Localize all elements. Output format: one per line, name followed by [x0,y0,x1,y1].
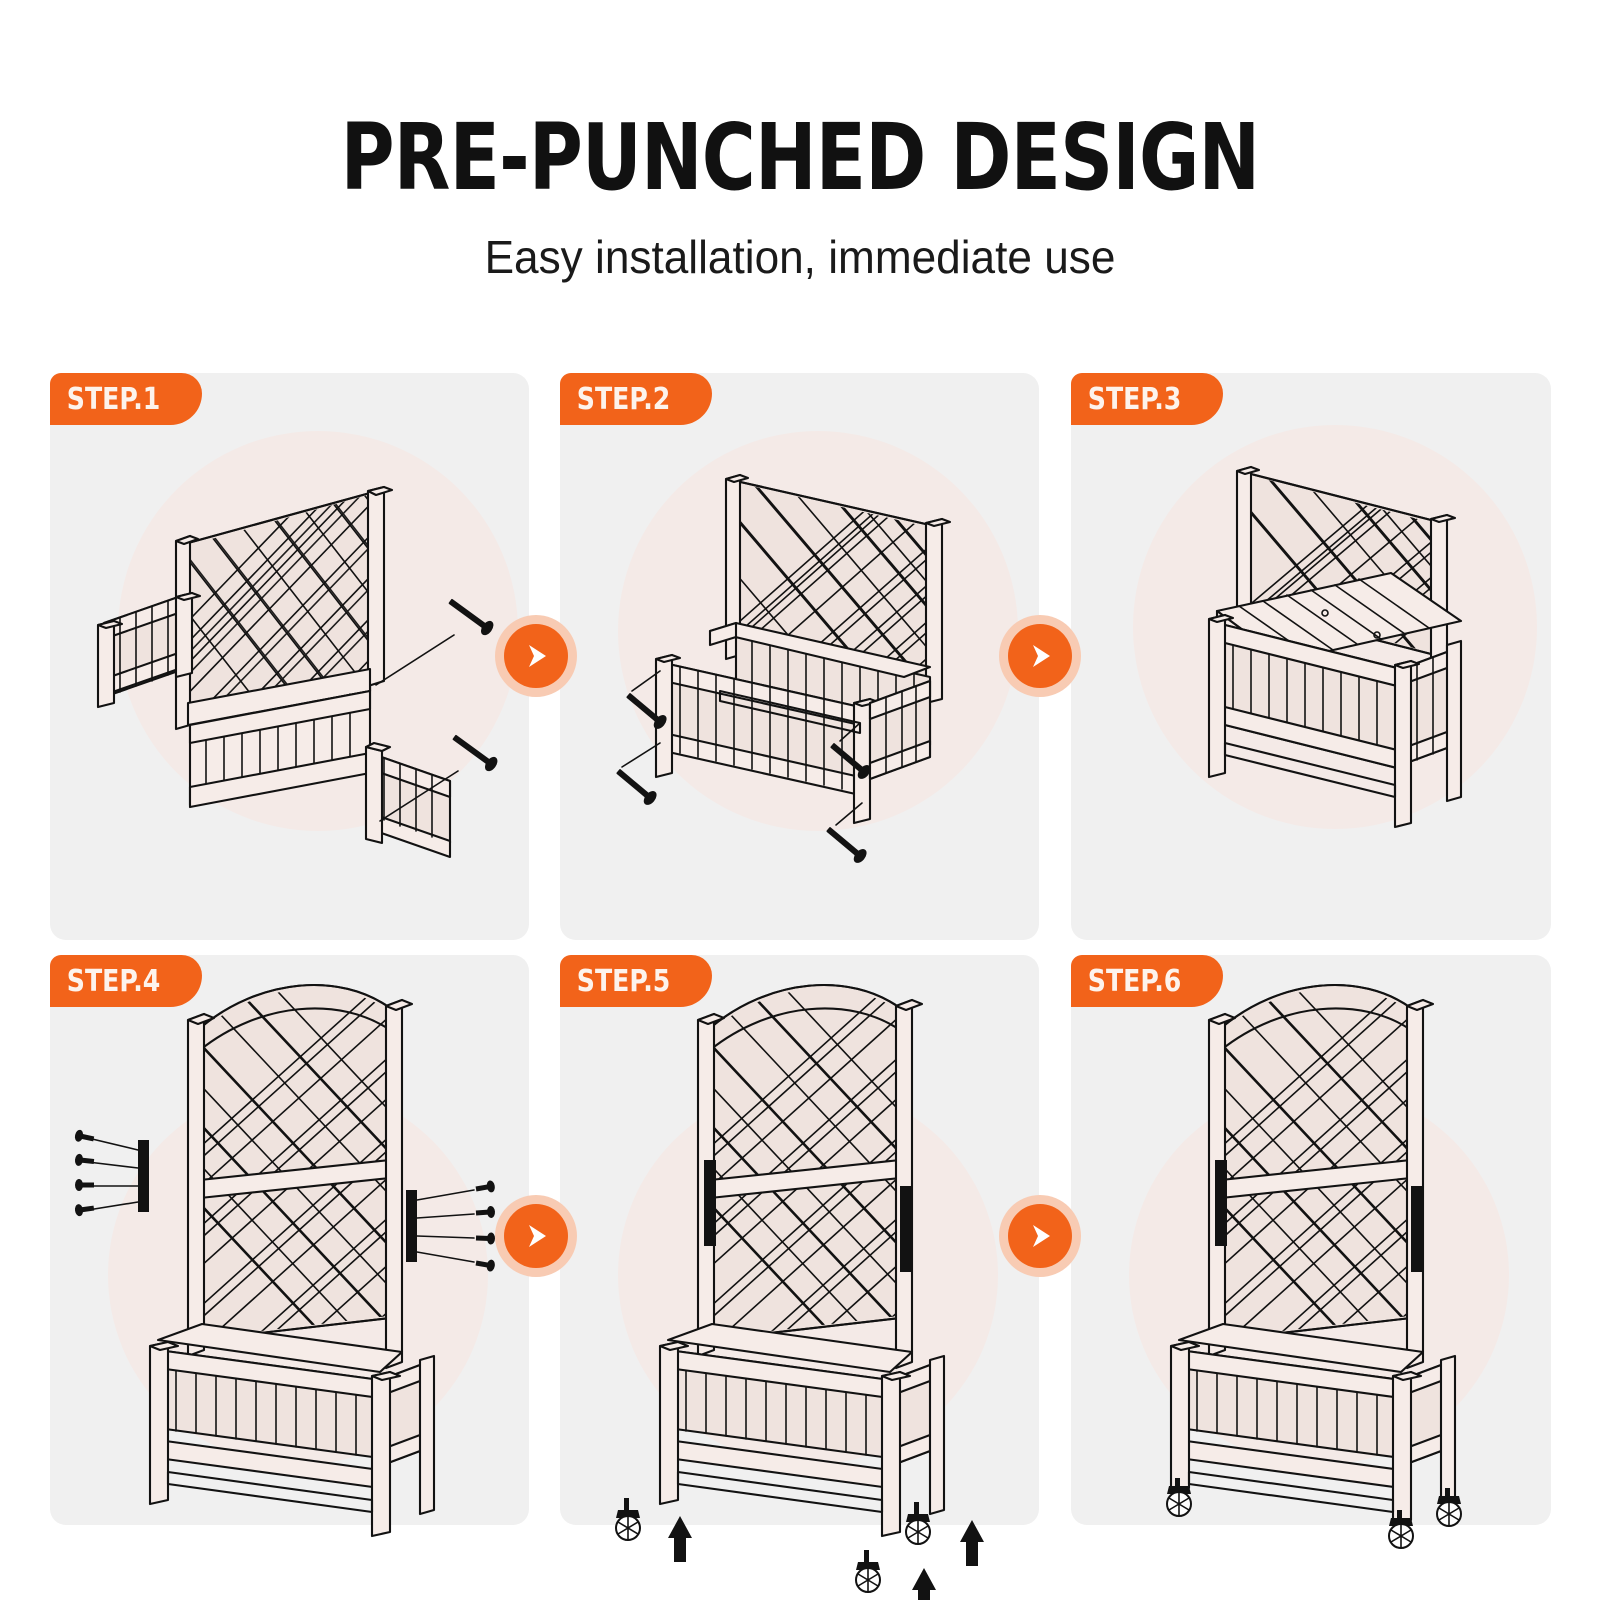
step-badge-2-label: STEP.2 [560,382,670,417]
step-badge-3-label: STEP.3 [1071,382,1181,417]
play-arrow-right-icon [520,1220,552,1252]
arrow-step-2-to-3 [999,615,1081,697]
steps-grid: STEP.1 [0,0,1600,1600]
screw-icon [445,595,500,774]
step-badge-5: STEP.5 [560,955,712,1007]
step-2-illustration [560,373,1039,940]
step-card-1[interactable]: STEP.1 [50,373,529,940]
step-badge-6-label: STEP.6 [1071,964,1181,999]
play-arrow-right-icon [520,640,552,672]
step-card-5[interactable]: STEP.5 [560,955,1039,1525]
step-4-illustration [50,955,529,1525]
step-card-6[interactable]: STEP.6 [1071,955,1551,1525]
step-6-illustration [1071,955,1551,1525]
step-card-4[interactable]: STEP.4 [50,955,529,1525]
arrow-step-5-to-6 [999,1195,1081,1277]
step-1-illustration [50,373,529,940]
step-card-2-clip [560,373,1039,940]
step-badge-1: STEP.1 [50,373,202,425]
step-badge-4: STEP.4 [50,955,202,1007]
arrow-disc [504,624,568,688]
step-badge-3: STEP.3 [1071,373,1223,425]
step-badge-5-label: STEP.5 [560,964,670,999]
step-badge-2: STEP.2 [560,373,712,425]
step-card-3-clip [1071,373,1551,940]
step-card-2[interactable]: STEP.2 [560,373,1039,940]
step-card-3[interactable]: STEP.3 [1071,373,1551,940]
arrow-disc [1008,624,1072,688]
arrow-disc [1008,1204,1072,1268]
play-arrow-right-icon [1024,640,1056,672]
step-card-1-clip [50,373,529,940]
up-arrow-icon [668,1516,984,1600]
step-3-illustration [1071,373,1551,940]
step-badge-1-label: STEP.1 [50,382,160,417]
screw-icon [74,1129,95,1217]
arrow-disc [504,1204,568,1268]
arrow-step-4-to-5 [495,1195,577,1277]
screw-icon [475,1180,496,1272]
play-arrow-right-icon [1024,1220,1056,1252]
infographic-page: PRE-PUNCHED DESIGN Easy installation, im… [0,0,1600,1600]
step-5-illustration [560,955,1039,1525]
arrow-step-1-to-2 [495,615,577,697]
step-badge-4-label: STEP.4 [50,964,160,999]
step-badge-6: STEP.6 [1071,955,1223,1007]
